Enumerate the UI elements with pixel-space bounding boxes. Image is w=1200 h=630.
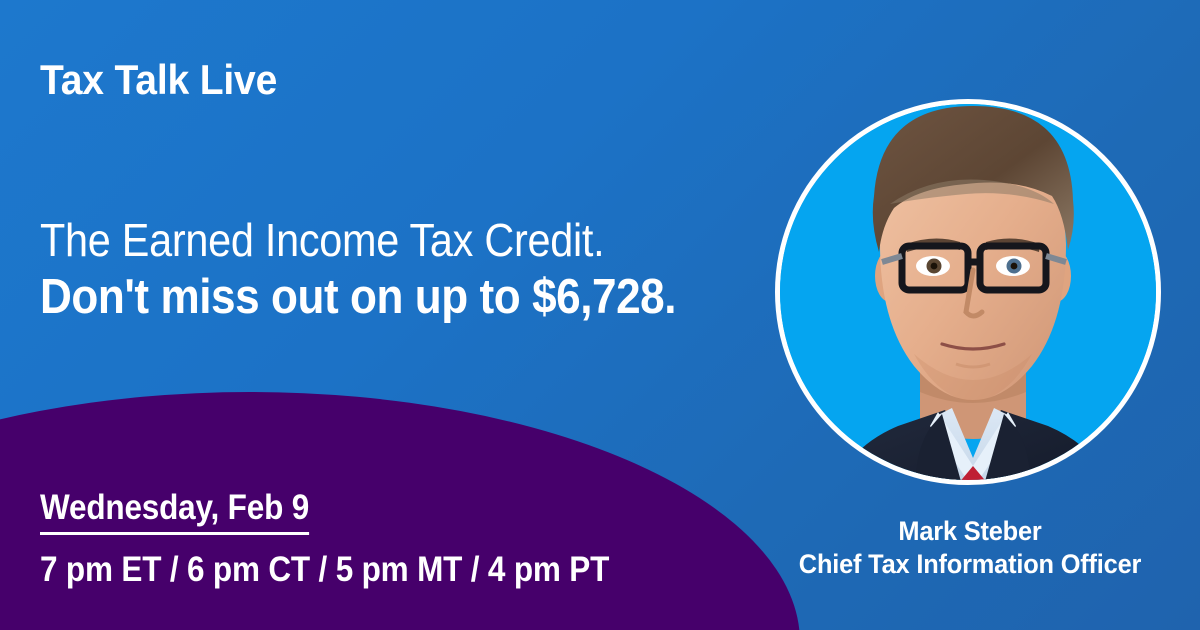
portrait-disc [775,99,1161,485]
headline-line-1: The Earned Income Tax Credit. [40,212,706,268]
event-times: 7 pm ET / 6 pm CT / 5 pm MT / 4 pm PT [40,549,670,591]
speaker-name-block: Mark Steber Chief Tax Information Office… [760,515,1180,582]
schedule-block: Wednesday, Feb 9 7 pm ET / 6 pm CT / 5 p… [40,487,740,591]
promo-banner: Tax Talk Live The Earned Income Tax Cred… [0,0,1200,630]
portrait-photo [775,99,1161,485]
event-date: Wednesday, Feb 9 [40,487,309,535]
speaker-job-title: Chief Tax Information Officer [773,548,1168,581]
portrait-illustration [775,99,1161,485]
headline-line-2: Don't miss out on up to $6,728. [40,268,706,327]
speaker-portrait [775,99,1161,485]
program-title: Tax Talk Live [40,58,277,102]
headline: The Earned Income Tax Credit. Don't miss… [40,212,780,327]
speaker-name: Mark Steber [773,515,1168,548]
